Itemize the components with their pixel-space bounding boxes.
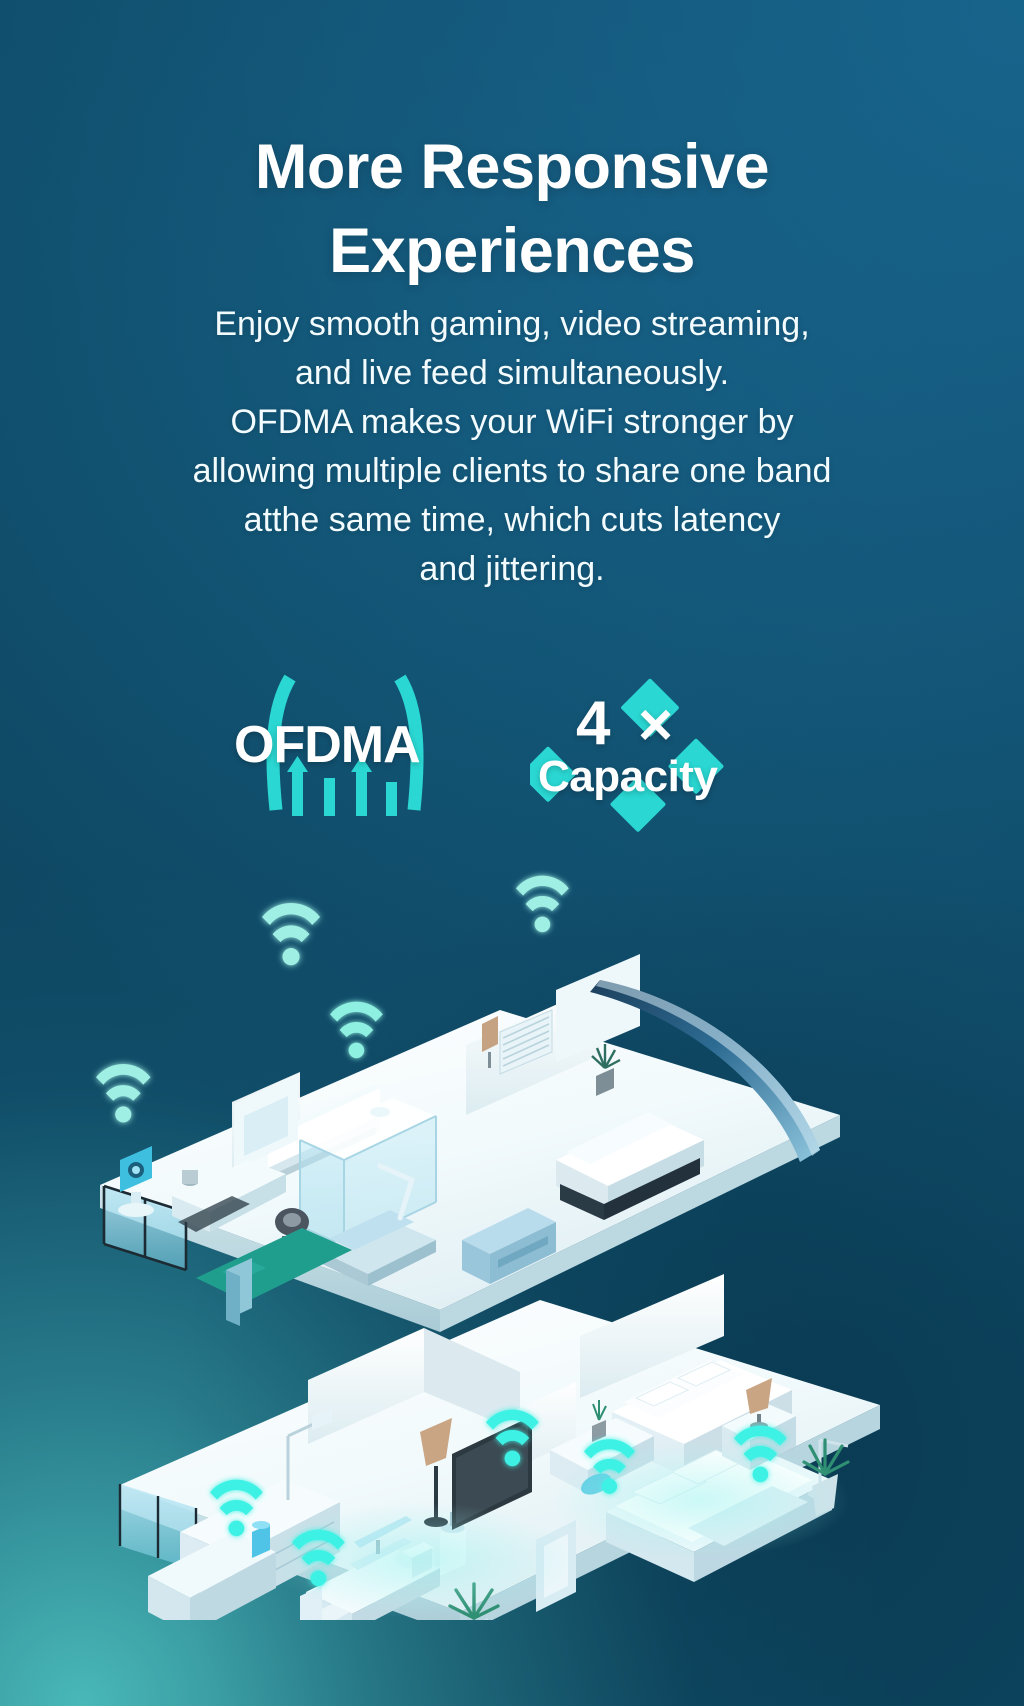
upper-floor	[96, 876, 840, 1332]
badge-capacity-label: Capacity	[538, 752, 717, 802]
body-line-2: and live feed simultaneously.	[0, 349, 1024, 398]
body-copy: Enjoy smooth gaming, video streaming, an…	[0, 300, 1024, 594]
body-line-3: OFDMA makes your WiFi stronger by	[0, 398, 1024, 447]
badge-ofdma: OFDMA	[228, 660, 478, 835]
marketing-page: More Responsive Experiences Enjoy smooth…	[0, 0, 1024, 1706]
floor-glow-2	[550, 1442, 850, 1558]
feature-badges: OFDMA	[0, 660, 1024, 840]
wifi-icon-upper-right	[516, 876, 569, 933]
wifi-icon-upper-camera	[96, 1064, 151, 1123]
badge-capacity-multiplier: ×	[638, 690, 673, 759]
headline-line-1: More Responsive	[255, 132, 769, 202]
headline-line-2: Experiences	[329, 216, 695, 286]
lower-floor	[120, 1274, 880, 1620]
body-line-1: Enjoy smooth gaming, video streaming,	[0, 300, 1024, 349]
badge-capacity: 4 × Capacity	[530, 660, 760, 840]
isometric-house-svg	[0, 840, 1024, 1620]
wifi-icon-upper-ac-side	[330, 1002, 383, 1059]
badge-capacity-number: 4	[576, 688, 610, 759]
smart-home-illustration	[0, 840, 1024, 1620]
body-line-5: atthe same time, which cuts latency	[0, 496, 1024, 545]
body-line-4: allowing multiple clients to share one b…	[0, 447, 1024, 496]
badge-ofdma-label: OFDMA	[234, 715, 420, 775]
wifi-icon-upper-ac-top	[262, 903, 320, 965]
page-title: More Responsive Experiences	[0, 126, 1024, 294]
body-line-6: and jittering.	[0, 545, 1024, 594]
